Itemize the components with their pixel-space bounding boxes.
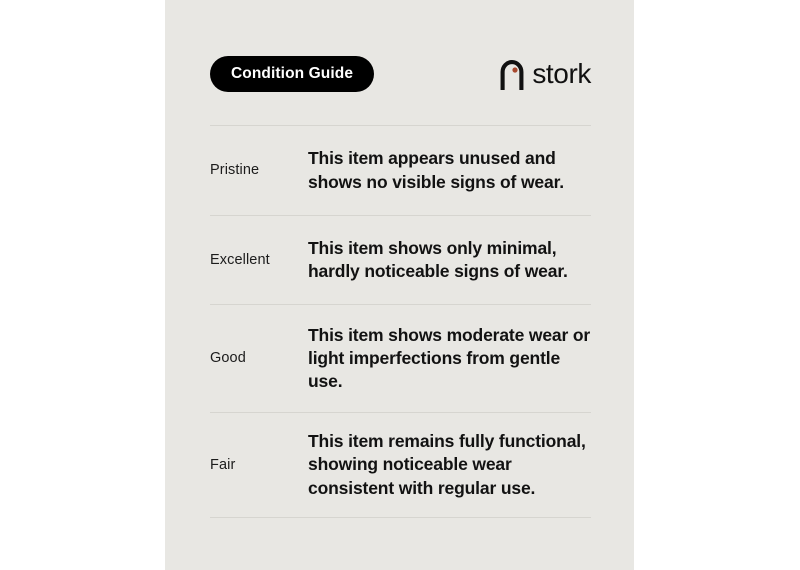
table-row: Pristine This item appears unused and sh… bbox=[210, 126, 591, 215]
condition-label: Excellent bbox=[210, 251, 308, 270]
brand-wordmark: stork bbox=[532, 60, 591, 88]
table-row: Excellent This item shows only minimal, … bbox=[210, 216, 591, 304]
condition-label: Fair bbox=[210, 456, 308, 475]
condition-label: Pristine bbox=[210, 161, 308, 180]
condition-description: This item appears unused and shows no vi… bbox=[308, 147, 591, 193]
condition-guide-table: Pristine This item appears unused and sh… bbox=[210, 125, 591, 518]
condition-description: This item shows only minimal, hardly not… bbox=[308, 237, 591, 283]
brand-lockup: stork bbox=[499, 59, 591, 90]
table-divider-bottom bbox=[210, 517, 591, 518]
screen-root: Condition Guide stork Pristine This item… bbox=[0, 0, 800, 570]
condition-description: This item remains fully functional, show… bbox=[308, 430, 591, 499]
condition-label: Good bbox=[210, 349, 308, 368]
stork-arch-logo-icon bbox=[499, 59, 525, 90]
condition-description: This item shows moderate wear or light i… bbox=[308, 324, 591, 393]
table-row: Good This item shows moderate wear or li… bbox=[210, 305, 591, 412]
card-header: Condition Guide stork bbox=[210, 54, 591, 94]
table-row: Fair This item remains fully functional,… bbox=[210, 413, 591, 517]
condition-guide-badge: Condition Guide bbox=[210, 56, 374, 92]
condition-guide-card: Condition Guide stork Pristine This item… bbox=[165, 0, 634, 570]
